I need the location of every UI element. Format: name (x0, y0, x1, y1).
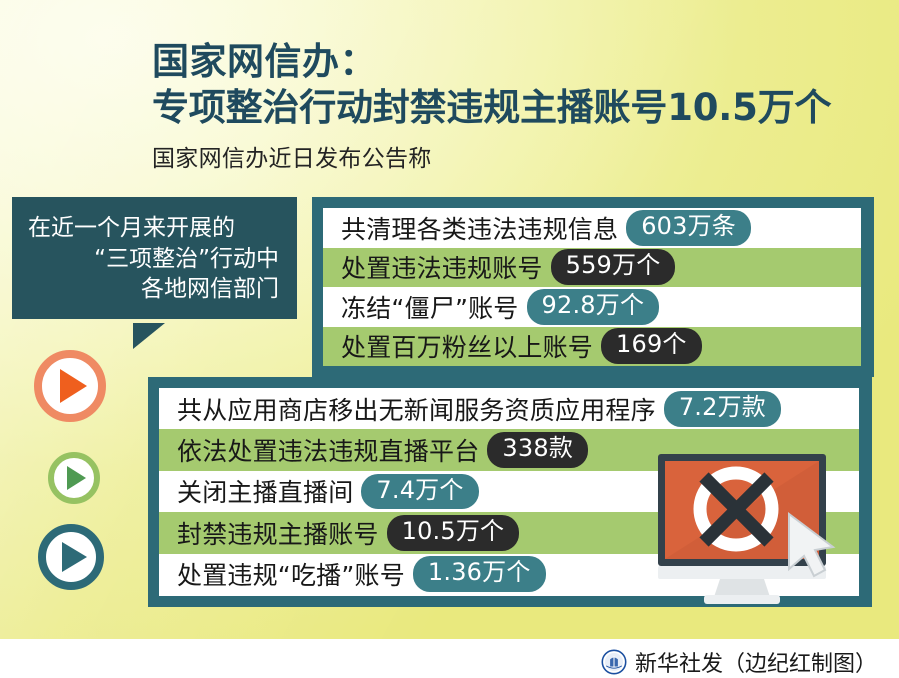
data-row: 处置百万粉丝以上账号169个 (323, 327, 861, 367)
callout-tail (133, 323, 165, 349)
data-panel-one: 共清理各类违法违规信息603万条处置违法违规账号559万个冻结“僵尸”账号92.… (312, 197, 874, 377)
data-row: 冻结“僵尸”账号92.8万个 (323, 287, 861, 327)
callout-line-2: “三项整治”行动中 (28, 244, 279, 275)
play-triangle-teal-icon (62, 542, 87, 572)
play-triangle-green-icon (67, 466, 86, 490)
page-title-line1: 国家网信办： (152, 40, 892, 84)
data-row-value-badge: 169个 (601, 328, 702, 364)
play-button-orange-icon (34, 350, 106, 422)
data-row-label: 处置违法违规账号 (341, 249, 543, 285)
data-row-label: 封禁违规主播账号 (177, 515, 379, 551)
data-row: 处置违法违规账号559万个 (323, 248, 861, 288)
data-row-label: 处置百万粉丝以上账号 (341, 328, 593, 364)
data-row-label: 依法处置违法违规直播平台 (177, 432, 479, 468)
data-row-value-badge: 10.5万个 (387, 515, 520, 551)
data-row-value-badge: 7.2万款 (664, 391, 781, 427)
play-button-green-icon (48, 452, 100, 504)
monitor-stand (714, 579, 770, 597)
data-row: 共清理各类违法违规信息603万条 (323, 208, 861, 248)
callout-box: 在近一个月来开展的 “三项整治”行动中 各地网信部门 (12, 197, 297, 319)
data-row-value-badge: 603万条 (626, 210, 751, 246)
data-row: 共从应用商店移出无新闻服务资质应用程序7.2万款 (159, 388, 859, 429)
monitor-chin (658, 566, 826, 579)
headline-block: 国家网信办： 专项整治行动封禁违规主播账号10.5万个 国家网信办近日发布公告称 (152, 40, 892, 173)
xinhua-logo-icon (601, 649, 627, 675)
data-row-label: 冻结“僵尸”账号 (341, 289, 519, 325)
data-row-value-badge: 338款 (487, 432, 588, 468)
data-row-value-badge: 559万个 (551, 249, 676, 285)
monitor-blocked-icon (652, 452, 862, 607)
data-row-label: 处置违规“吃播”账号 (177, 556, 405, 592)
data-row-label: 关闭主播直播间 (177, 473, 353, 509)
data-row-value-badge: 1.36万个 (413, 556, 546, 592)
play-triangle-orange-icon (60, 369, 87, 403)
credit-block: 新华社发（边纪红制图） (601, 646, 877, 678)
page-title-line2: 专项整治行动封禁违规主播账号10.5万个 (152, 86, 892, 130)
page-subtitle: 国家网信办近日发布公告称 (152, 139, 892, 173)
callout-line-3: 各地网信部门 (28, 274, 279, 305)
data-panel-one-rows: 共清理各类违法违规信息603万条处置违法违规账号559万个冻结“僵尸”账号92.… (323, 208, 861, 366)
infographic-poster: 国家网信办： 专项整治行动封禁违规主播账号10.5万个 国家网信办近日发布公告称… (0, 0, 899, 678)
data-row-label: 共清理各类违法违规信息 (341, 210, 618, 246)
callout-line-1: 在近一个月来开展的 (28, 213, 279, 244)
data-row-value-badge: 7.4万个 (361, 474, 478, 510)
monitor-base (704, 595, 780, 604)
data-row-value-badge: 92.8万个 (527, 289, 660, 325)
credit-text: 新华社发（边纪红制图） (635, 646, 877, 678)
play-button-teal-icon (38, 524, 104, 590)
data-row-label: 共从应用商店移出无新闻服务资质应用程序 (177, 391, 656, 427)
